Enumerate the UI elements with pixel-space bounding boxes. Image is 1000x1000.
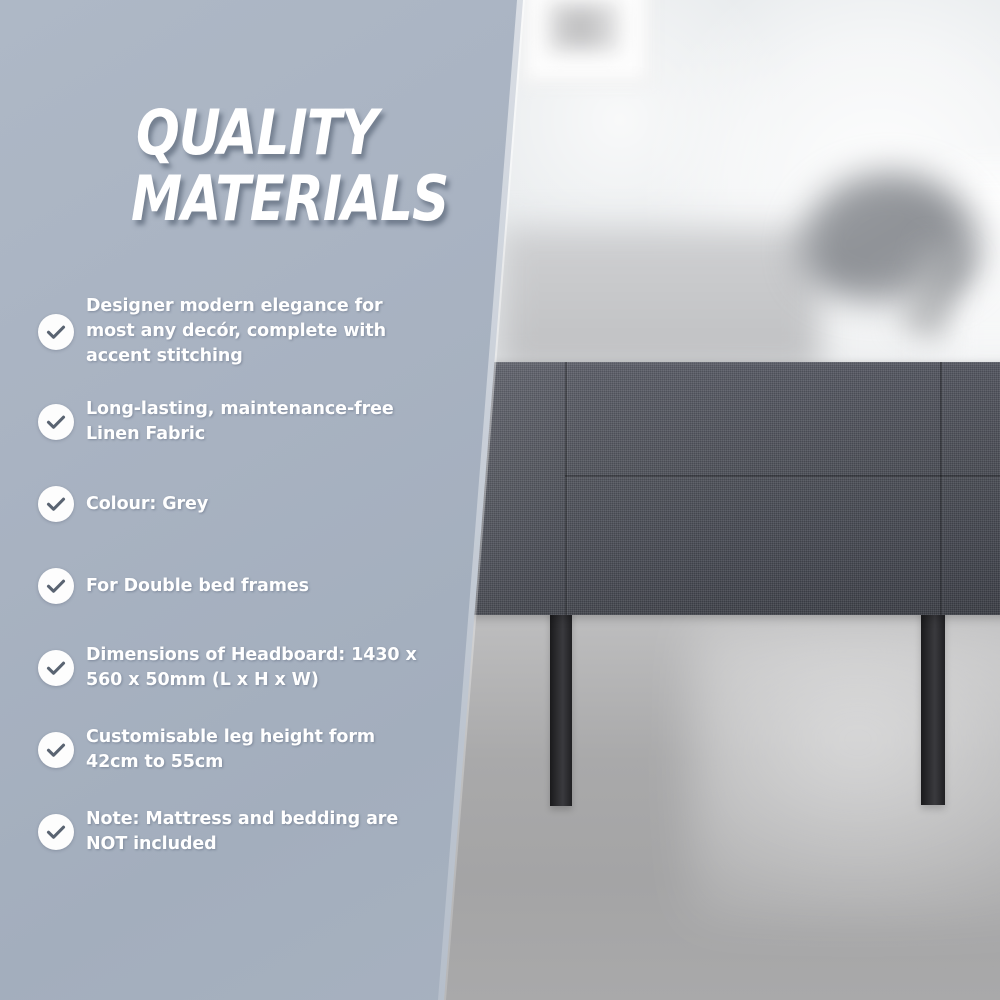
product-feature-image: QUALITY MATERIALS Designer modern elegan…: [0, 0, 1000, 1000]
feature-item: Note: Mattress and bedding are NOT inclu…: [34, 803, 424, 861]
feature-text: Designer modern elegance for most any de…: [86, 294, 424, 369]
headboard-panel: [417, 362, 1000, 615]
feature-item: Designer modern elegance for most any de…: [34, 294, 424, 369]
check-circle-icon: [38, 314, 74, 350]
check-circle-icon: [38, 486, 74, 522]
headboard-leg-right: [921, 608, 945, 805]
headboard-leg-left: [550, 608, 572, 806]
feature-list: Designer modern elegance for most any de…: [34, 294, 424, 885]
check-circle-icon: [38, 814, 74, 850]
page-title-line-1: QUALITY: [136, 96, 378, 169]
feature-text: Colour: Grey: [86, 492, 208, 517]
fabric-highlight: [417, 362, 1000, 615]
feature-text: Note: Mattress and bedding are NOT inclu…: [86, 807, 424, 857]
stitching-seam-horizontal: [565, 475, 1000, 477]
check-circle-icon: [38, 404, 74, 440]
feature-item: Long-lasting, maintenance-free Linen Fab…: [34, 393, 424, 451]
feature-text: For Double bed frames: [86, 574, 309, 599]
stitching-seam-vertical-right: [940, 362, 942, 615]
feature-text: Customisable leg height form 42cm to 55c…: [86, 725, 424, 775]
floor-light-reflection: [690, 620, 1000, 920]
page-title: QUALITY MATERIALS: [136, 100, 410, 232]
background-dresser: [500, 228, 820, 373]
feature-item: Colour: Grey: [34, 475, 424, 533]
feature-text: Dimensions of Headboard: 1430 x 560 x 50…: [86, 643, 424, 693]
feature-item: Dimensions of Headboard: 1430 x 560 x 50…: [34, 639, 424, 697]
check-circle-icon: [38, 568, 74, 604]
feature-text: Long-lasting, maintenance-free Linen Fab…: [86, 397, 424, 447]
stitching-seam-vertical-left: [565, 362, 567, 615]
check-circle-icon: [38, 732, 74, 768]
page-title-line-2: MATERIALS: [131, 166, 410, 232]
feature-item: Customisable leg height form 42cm to 55c…: [34, 721, 424, 779]
wall-picture-artwork: [548, 2, 620, 52]
check-circle-icon: [38, 650, 74, 686]
feature-item: For Double bed frames: [34, 557, 424, 615]
